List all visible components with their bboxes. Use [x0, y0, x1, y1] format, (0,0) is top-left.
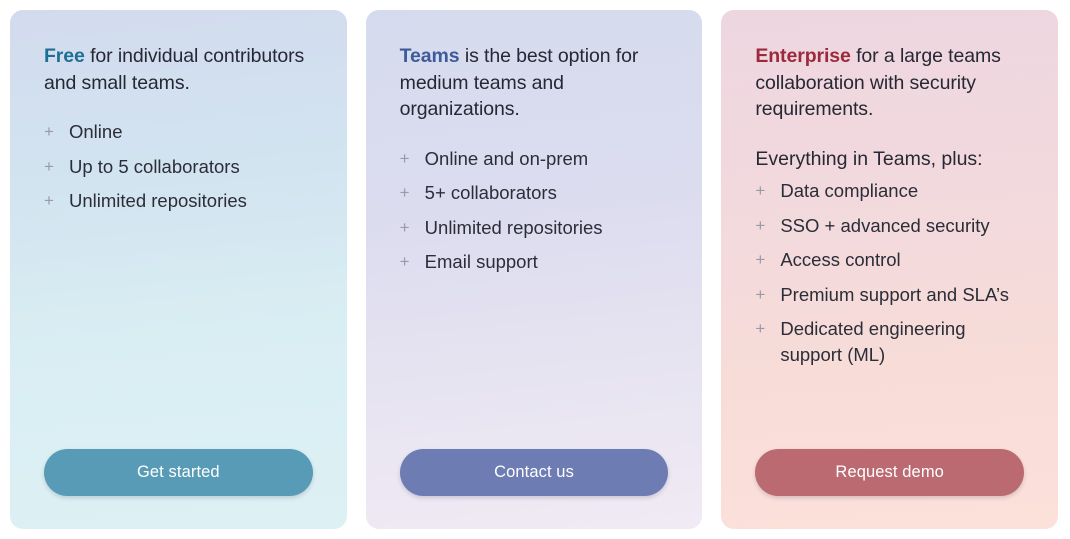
cta-wrap-free: Get started — [44, 449, 313, 529]
feature-item: + Online and on-prem — [400, 146, 669, 172]
plus-icon: + — [400, 249, 414, 275]
feature-item: + Data compliance — [755, 178, 1024, 204]
feature-item: + Up to 5 collaborators — [44, 154, 313, 180]
plus-icon: + — [44, 188, 58, 214]
plan-card-free: Free for individual contributors and sma… — [10, 10, 347, 529]
feature-label: 5+ collaborators — [425, 180, 669, 206]
feature-label: Email support — [425, 249, 669, 275]
feature-label: Premium support and SLA’s — [780, 282, 1024, 308]
everything-in-teams-note: Everything in Teams, plus: — [755, 146, 1024, 173]
feature-label: SSO + advanced security — [780, 213, 1024, 239]
plus-icon: + — [44, 119, 58, 145]
plan-headline-free: Free for individual contributors and sma… — [44, 43, 313, 96]
plan-card-teams: Teams is the best option for medium team… — [366, 10, 703, 529]
plus-icon: + — [755, 178, 769, 204]
get-started-button[interactable]: Get started — [44, 449, 313, 496]
feature-item: + Online — [44, 119, 313, 145]
plus-icon: + — [755, 213, 769, 239]
feature-item: + SSO + advanced security — [755, 213, 1024, 239]
plan-name-free: Free — [44, 45, 85, 67]
feature-item: + Email support — [400, 249, 669, 275]
plus-icon: + — [44, 154, 58, 180]
plan-card-enterprise: Enterprise for a large teams collaborati… — [721, 10, 1058, 529]
feature-item: + Unlimited repositories — [400, 215, 669, 241]
plus-icon: + — [755, 247, 769, 273]
feature-label: Online — [69, 119, 313, 145]
feature-label: Unlimited repositories — [425, 215, 669, 241]
feature-item: + Premium support and SLA’s — [755, 282, 1024, 308]
plan-headline-enterprise: Enterprise for a large teams collaborati… — [755, 43, 1024, 123]
feature-label: Online and on-prem — [425, 146, 669, 172]
plus-icon: + — [400, 146, 414, 172]
feature-list-enterprise: + Data compliance + SSO + advanced secur… — [755, 178, 1024, 376]
feature-item: + Access control — [755, 247, 1024, 273]
pricing-plans-grid: Free for individual contributors and sma… — [10, 10, 1058, 529]
plan-headline-teams: Teams is the best option for medium team… — [400, 43, 669, 123]
plan-name-teams: Teams — [400, 45, 460, 67]
feature-item: + Dedicated engineering support (ML) — [755, 316, 1024, 367]
contact-us-button[interactable]: Contact us — [400, 449, 669, 496]
feature-list-teams: + Online and on-prem + 5+ collaborators … — [400, 146, 669, 284]
feature-label: Up to 5 collaborators — [69, 154, 313, 180]
feature-label: Data compliance — [780, 178, 1024, 204]
plus-icon: + — [400, 215, 414, 241]
cta-wrap-enterprise: Request demo — [755, 449, 1024, 529]
feature-label: Unlimited repositories — [69, 188, 313, 214]
feature-item: + Unlimited repositories — [44, 188, 313, 214]
plus-icon: + — [400, 180, 414, 206]
feature-label: Dedicated engineering support (ML) — [780, 316, 1024, 367]
request-demo-button[interactable]: Request demo — [755, 449, 1024, 496]
feature-list-free: + Online + Up to 5 collaborators + Unlim… — [44, 119, 313, 223]
cta-wrap-teams: Contact us — [400, 449, 669, 529]
feature-label: Access control — [780, 247, 1024, 273]
plus-icon: + — [755, 316, 769, 342]
feature-item: + 5+ collaborators — [400, 180, 669, 206]
plan-name-enterprise: Enterprise — [755, 45, 850, 67]
plus-icon: + — [755, 282, 769, 308]
